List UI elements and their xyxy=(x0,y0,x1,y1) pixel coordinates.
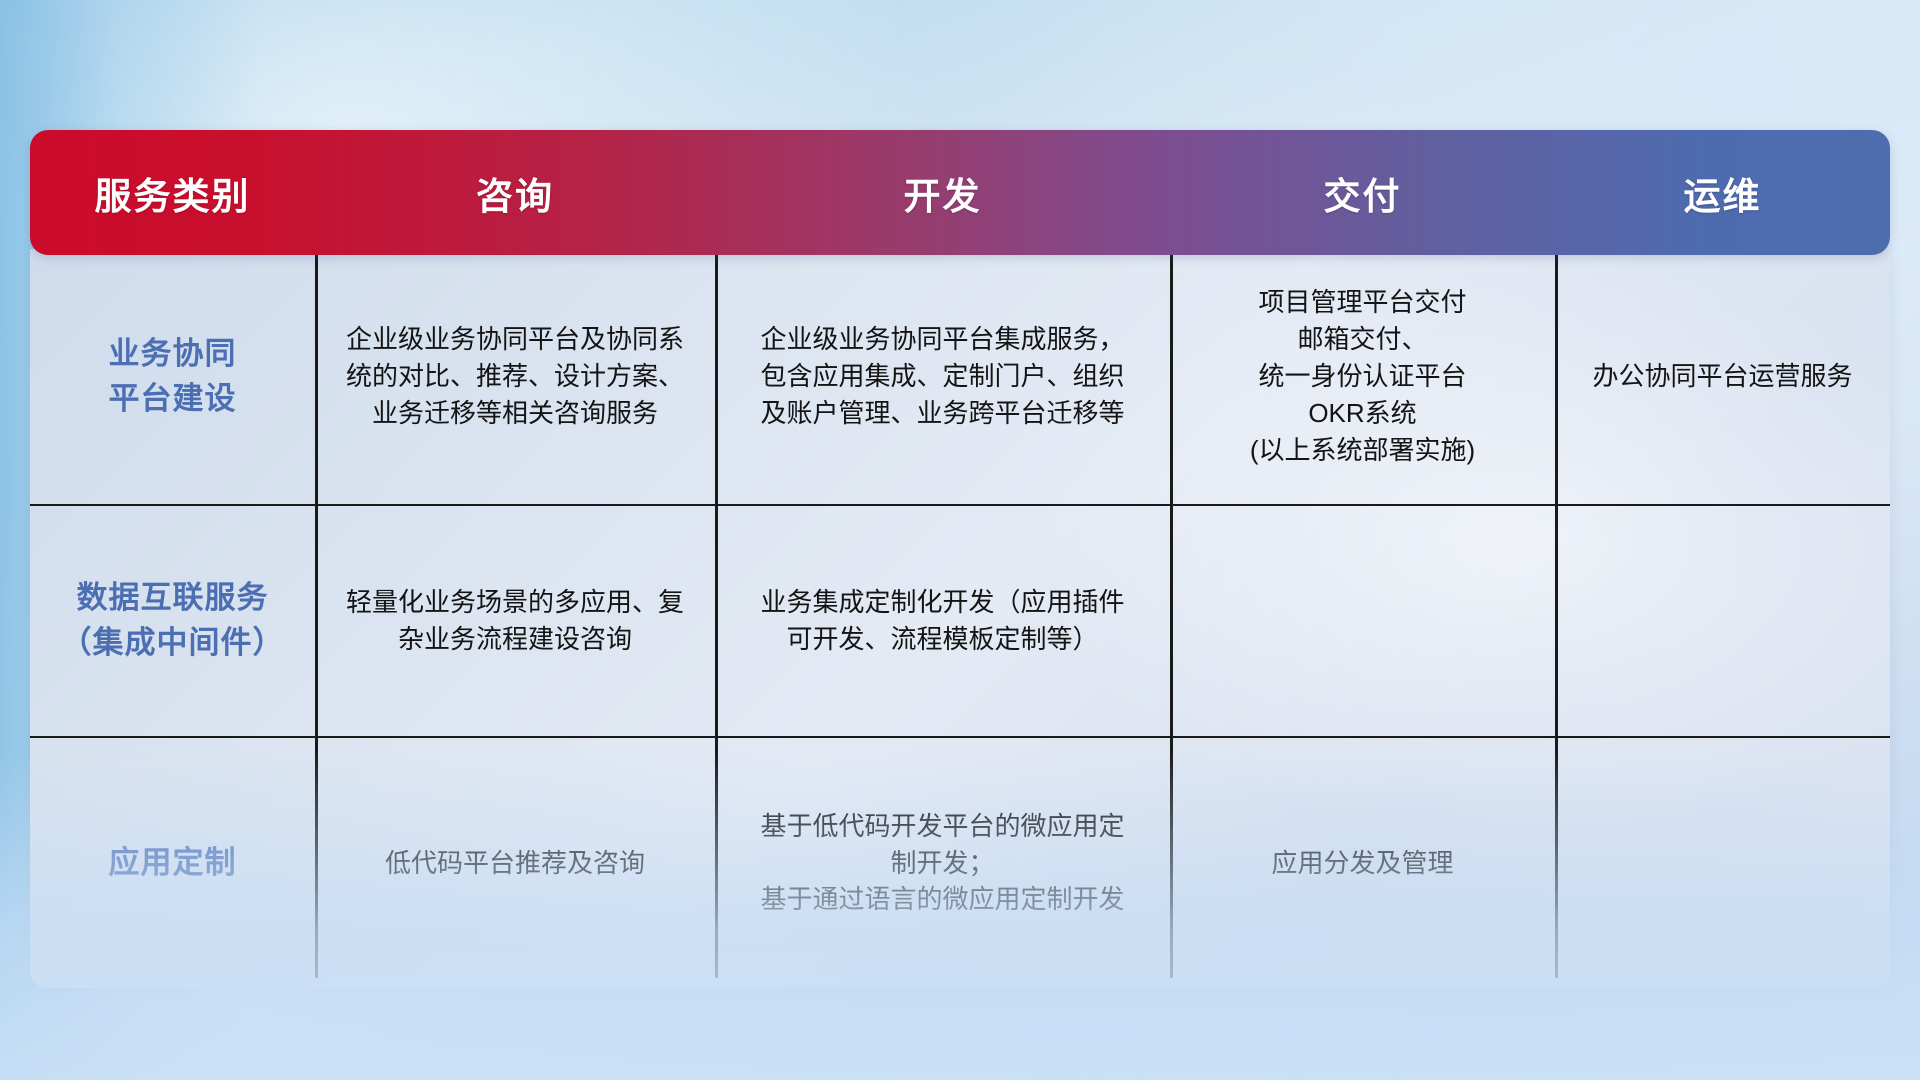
cell-consulting: 企业级业务协同平台及协同系 统的对比、推荐、设计方案、 业务迁移等相关咨询服务 xyxy=(315,249,715,504)
row-label: 应用定制 xyxy=(109,841,237,886)
cell-consulting: 低代码平台推荐及咨询 xyxy=(315,738,715,988)
row-label-cell: 数据互联服务 （集成中间件） xyxy=(30,506,315,736)
cell-development: 企业级业务协同平台集成服务， 包含应用集成、定制门户、组织 及账户管理、业务跨平… xyxy=(715,249,1170,504)
table-body: 业务协同 平台建设 企业级业务协同平台及协同系 统的对比、推荐、设计方案、 业务… xyxy=(30,249,1890,988)
cell-delivery xyxy=(1170,506,1555,736)
cell-operations xyxy=(1555,738,1890,988)
table-row: 业务协同 平台建设 企业级业务协同平台及协同系 统的对比、推荐、设计方案、 业务… xyxy=(30,249,1890,506)
cell-delivery: 应用分发及管理 xyxy=(1170,738,1555,988)
column-header-operations: 运维 xyxy=(1555,130,1890,255)
row-label-cell: 业务协同 平台建设 xyxy=(30,249,315,504)
cell-text: 企业级业务协同平台及协同系 统的对比、推荐、设计方案、 业务迁移等相关咨询服务 xyxy=(346,321,684,432)
cell-development: 业务集成定制化开发（应用插件 可开发、流程模板定制等） xyxy=(715,506,1170,736)
row-label: 数据互联服务 （集成中间件） xyxy=(61,576,285,666)
column-header-label: 开发 xyxy=(904,166,982,220)
column-header-service-category: 服务类别 xyxy=(30,130,315,255)
cell-development: 基于低代码开发平台的微应用定 制开发； 基于通过语言的微应用定制开发 xyxy=(715,738,1170,988)
cell-text: 轻量化业务场景的多应用、复 杂业务流程建设咨询 xyxy=(346,584,684,658)
cell-text: 低代码平台推荐及咨询 xyxy=(385,845,645,882)
column-header-delivery: 交付 xyxy=(1170,130,1555,255)
cell-text: 企业级业务协同平台集成服务， 包含应用集成、定制门户、组织 及账户管理、业务跨平… xyxy=(760,321,1124,432)
cell-text: 业务集成定制化开发（应用插件 可开发、流程模板定制等） xyxy=(760,584,1124,658)
row-label: 业务协同 平台建设 xyxy=(109,332,237,422)
table-row: 应用定制 低代码平台推荐及咨询 基于低代码开发平台的微应用定 制开发； 基于通过… xyxy=(30,738,1890,988)
column-header-label: 咨询 xyxy=(476,166,554,220)
column-header-label: 交付 xyxy=(1324,166,1402,220)
table-header-row: 服务类别 咨询 开发 交付 运维 xyxy=(30,130,1890,255)
cell-operations xyxy=(1555,506,1890,736)
cell-text: 办公协同平台运营服务 xyxy=(1592,358,1852,395)
cell-delivery: 项目管理平台交付 邮箱交付、 统一身份认证平台 OKR系统 (以上系统部署实施) xyxy=(1170,249,1555,504)
cell-operations: 办公协同平台运营服务 xyxy=(1555,249,1890,504)
cell-text: 应用分发及管理 xyxy=(1271,845,1453,882)
column-header-label: 服务类别 xyxy=(95,166,251,220)
slide-canvas: 服务类别 咨询 开发 交付 运维 业务协同 平台建设 xyxy=(0,0,1920,1080)
column-header-development: 开发 xyxy=(715,130,1170,255)
cell-text: 基于低代码开发平台的微应用定 制开发； 基于通过语言的微应用定制开发 xyxy=(760,808,1124,919)
table-row: 数据互联服务 （集成中间件） 轻量化业务场景的多应用、复 杂业务流程建设咨询 业… xyxy=(30,506,1890,738)
cell-text: 项目管理平台交付 邮箱交付、 统一身份认证平台 OKR系统 (以上系统部署实施) xyxy=(1250,284,1475,469)
column-header-label: 运维 xyxy=(1684,166,1762,220)
cell-consulting: 轻量化业务场景的多应用、复 杂业务流程建设咨询 xyxy=(315,506,715,736)
row-label-cell: 应用定制 xyxy=(30,738,315,988)
service-matrix-table: 服务类别 咨询 开发 交付 运维 业务协同 平台建设 xyxy=(30,130,1890,988)
column-header-consulting: 咨询 xyxy=(315,130,715,255)
